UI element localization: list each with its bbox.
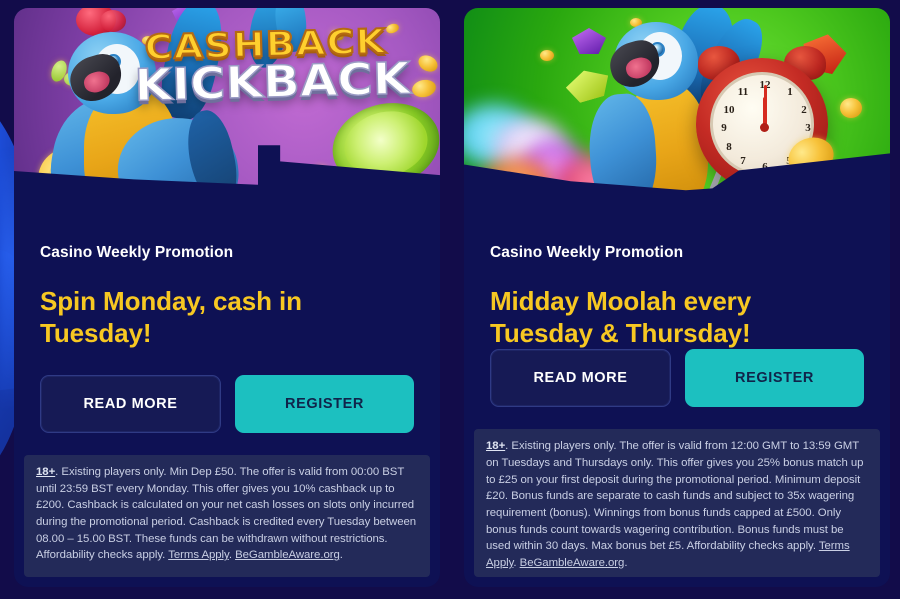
clock-numeral-11: 11 — [736, 86, 750, 98]
clock-numeral-3: 3 — [801, 122, 815, 134]
read-more-button[interactable]: READ MORE — [490, 349, 671, 407]
terms-trailing-text: . — [340, 549, 343, 561]
promo-title: Midday Moolah every Tuesday & Thursday! — [490, 286, 830, 349]
promo-hero-midday-moolah: 12 1 2 3 4 5 6 7 8 9 10 11 — [464, 8, 890, 226]
terms-body-text: . Existing players only. Min Dep £50. Th… — [36, 466, 416, 561]
clock-numeral-7: 7 — [736, 155, 750, 167]
promo-terms-and-conditions: 18+. Existing players only. Min Dep £50.… — [24, 455, 430, 577]
register-button[interactable]: REGISTER — [685, 349, 864, 407]
terms-body-text: . Existing players only. The offer is va… — [486, 440, 863, 552]
promo-body: Casino Weekly Promotion Midday Moolah ev… — [464, 226, 890, 429]
promo-card-cashback-kickback[interactable]: CASHBACK KICKBACK Casino Weekly Promotio… — [14, 8, 440, 587]
age-restriction-badge: 18+ — [486, 440, 505, 452]
promo-hero-cashback-kickback: CASHBACK KICKBACK — [14, 8, 440, 226]
clock-numeral-10: 10 — [722, 104, 736, 116]
coin-icon — [540, 50, 554, 61]
register-button[interactable]: REGISTER — [235, 375, 414, 433]
promo-terms-and-conditions: 18+. Existing players only. The offer is… — [474, 429, 880, 577]
clock-center-pin — [760, 123, 769, 132]
read-more-button[interactable]: READ MORE — [40, 375, 221, 433]
begambleaware-link[interactable]: BeGambleAware.org — [235, 549, 340, 561]
clock-numeral-8: 8 — [722, 141, 736, 153]
clock-minute-hand — [764, 85, 767, 127]
promo-card-midday-moolah[interactable]: 12 1 2 3 4 5 6 7 8 9 10 11 — [464, 8, 890, 587]
clock-numeral-1: 1 — [783, 86, 797, 98]
promo-action-row: READ MORE REGISTER — [40, 375, 414, 433]
terms-apply-link[interactable]: Terms Apply — [168, 549, 229, 561]
promo-body: Casino Weekly Promotion Spin Monday, cas… — [14, 226, 440, 455]
logo-text-kickback: KICKBACK — [134, 60, 399, 106]
clock-numeral-9: 9 — [717, 122, 731, 134]
age-restriction-badge: 18+ — [36, 466, 55, 478]
begambleaware-link[interactable]: BeGambleAware.org — [520, 557, 625, 569]
promo-logo-lockup: CASHBACK KICKBACK — [145, 27, 387, 106]
clock-numeral-2: 2 — [797, 104, 811, 116]
promo-action-row: READ MORE REGISTER — [490, 349, 864, 407]
promo-eyebrow: Casino Weekly Promotion — [490, 244, 864, 262]
promotions-grid: CASHBACK KICKBACK Casino Weekly Promotio… — [0, 0, 900, 599]
promo-eyebrow: Casino Weekly Promotion — [40, 244, 414, 262]
promo-title: Spin Monday, cash in Tuesday! — [40, 286, 380, 349]
terms-trailing-text: . — [624, 557, 627, 569]
